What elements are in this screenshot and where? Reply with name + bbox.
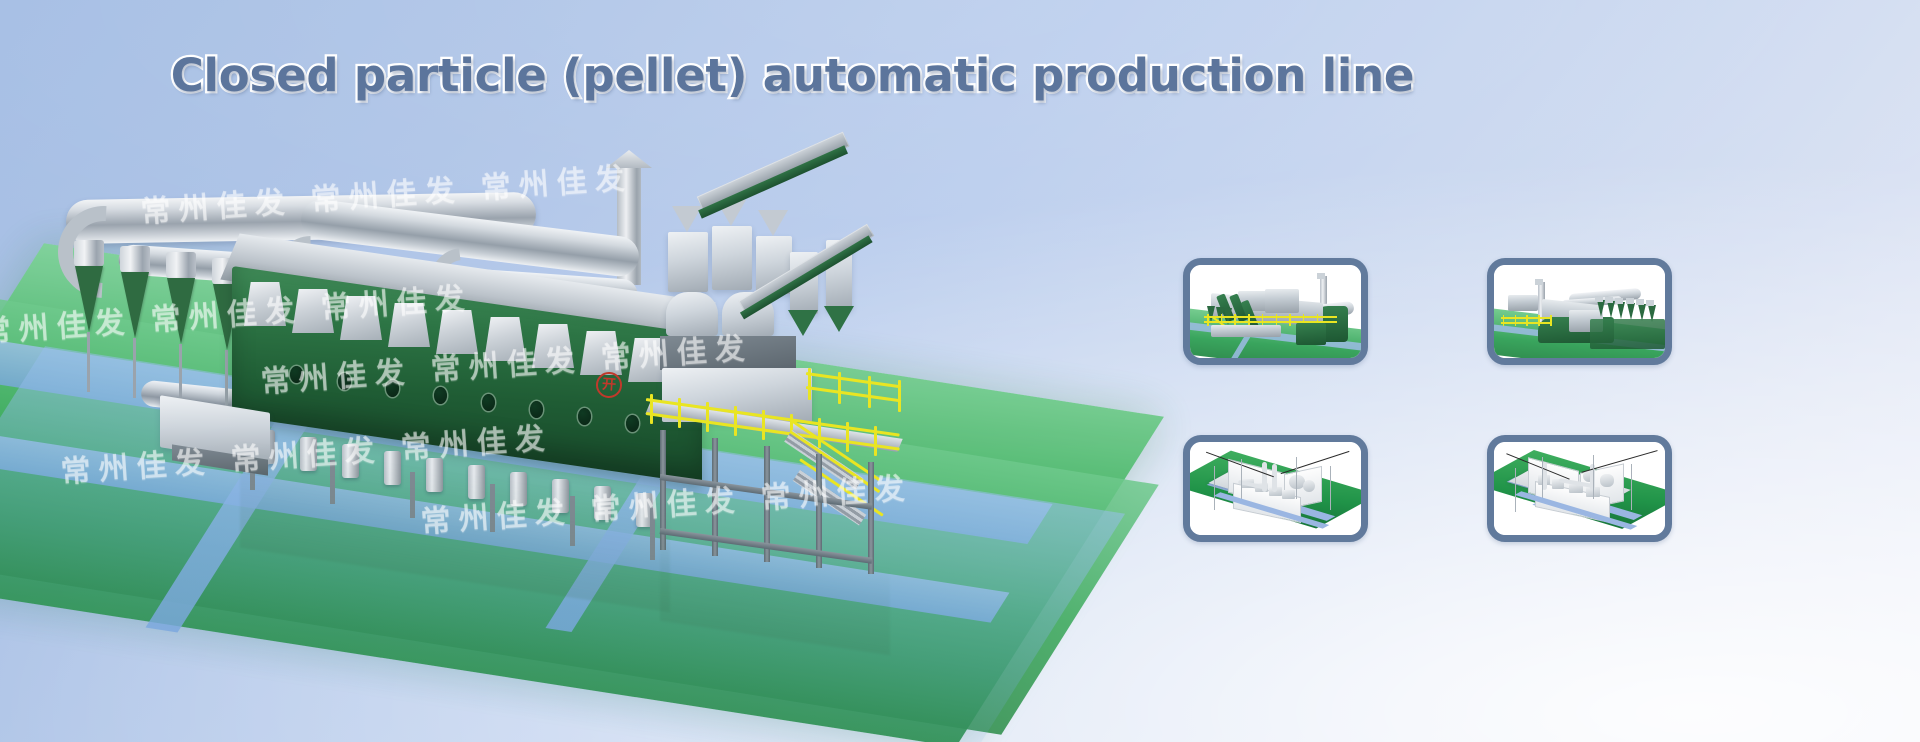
drive-motor: [468, 465, 485, 499]
thumbnail-dryer-cyclone-bank[interactable]: [1487, 258, 1672, 365]
mixer-vessel: [668, 232, 708, 292]
drive-motor: [342, 444, 359, 478]
access-hood: [292, 289, 334, 333]
support-leg: [570, 496, 575, 546]
cyclone-separator: [74, 240, 104, 392]
thumbnail-line-overview[interactable]: [1183, 258, 1368, 365]
thumbnail-plant-layout-left[interactable]: [1183, 435, 1368, 542]
drive-motor: [300, 437, 317, 471]
drive-motor: [510, 472, 527, 506]
access-hood: [244, 282, 286, 326]
inspection-port: [530, 401, 543, 418]
support-leg: [650, 508, 655, 560]
thumbnail-image: [1494, 265, 1665, 358]
inspection-port: [482, 394, 495, 411]
inclined-conveyor-belt: [698, 145, 848, 218]
drive-motor: [426, 458, 443, 492]
discharge-hopper: [788, 310, 818, 336]
chimney-rain-cap: [606, 150, 652, 168]
mixer-vessel: [712, 226, 752, 290]
thumbnail-image: [1190, 265, 1361, 358]
granulator-drum: [666, 292, 718, 336]
inspection-port: [626, 415, 639, 432]
discharge-hopper: [824, 306, 854, 332]
drive-motor: [594, 486, 611, 520]
feed-hopper: [758, 210, 788, 236]
inspection-port: [290, 366, 303, 383]
access-hood: [436, 310, 478, 354]
access-hood: [484, 317, 526, 361]
inspection-port: [386, 380, 399, 397]
banner-stage: Closed particle (pellet) automatic produ…: [0, 0, 1920, 742]
inspection-port: [578, 408, 591, 425]
inspection-port: [338, 373, 351, 390]
thumbnail-plant-layout-right[interactable]: [1487, 435, 1672, 542]
granulator-base: [660, 336, 796, 370]
inspection-port: [434, 387, 447, 404]
cyclone-separator: [120, 246, 150, 398]
inclined-conveyor: [697, 132, 850, 212]
thumbnail-image: [1190, 442, 1361, 535]
support-leg: [330, 460, 335, 504]
access-hood: [388, 303, 430, 347]
access-hood: [532, 324, 574, 368]
page-title: Closed particle (pellet) automatic produ…: [171, 49, 1415, 102]
support-leg: [410, 472, 415, 518]
drive-motor: [552, 479, 569, 513]
access-hood: [580, 331, 622, 375]
cyclone-separator: [166, 252, 196, 404]
support-leg: [490, 484, 495, 532]
access-hood: [340, 296, 382, 340]
main-production-line-render: 开: [0, 0, 960, 742]
page-title-wrap: Closed particle (pellet) automatic produ…: [0, 49, 1585, 102]
thumbnail-image: [1494, 442, 1665, 535]
drive-motor: [384, 451, 401, 485]
